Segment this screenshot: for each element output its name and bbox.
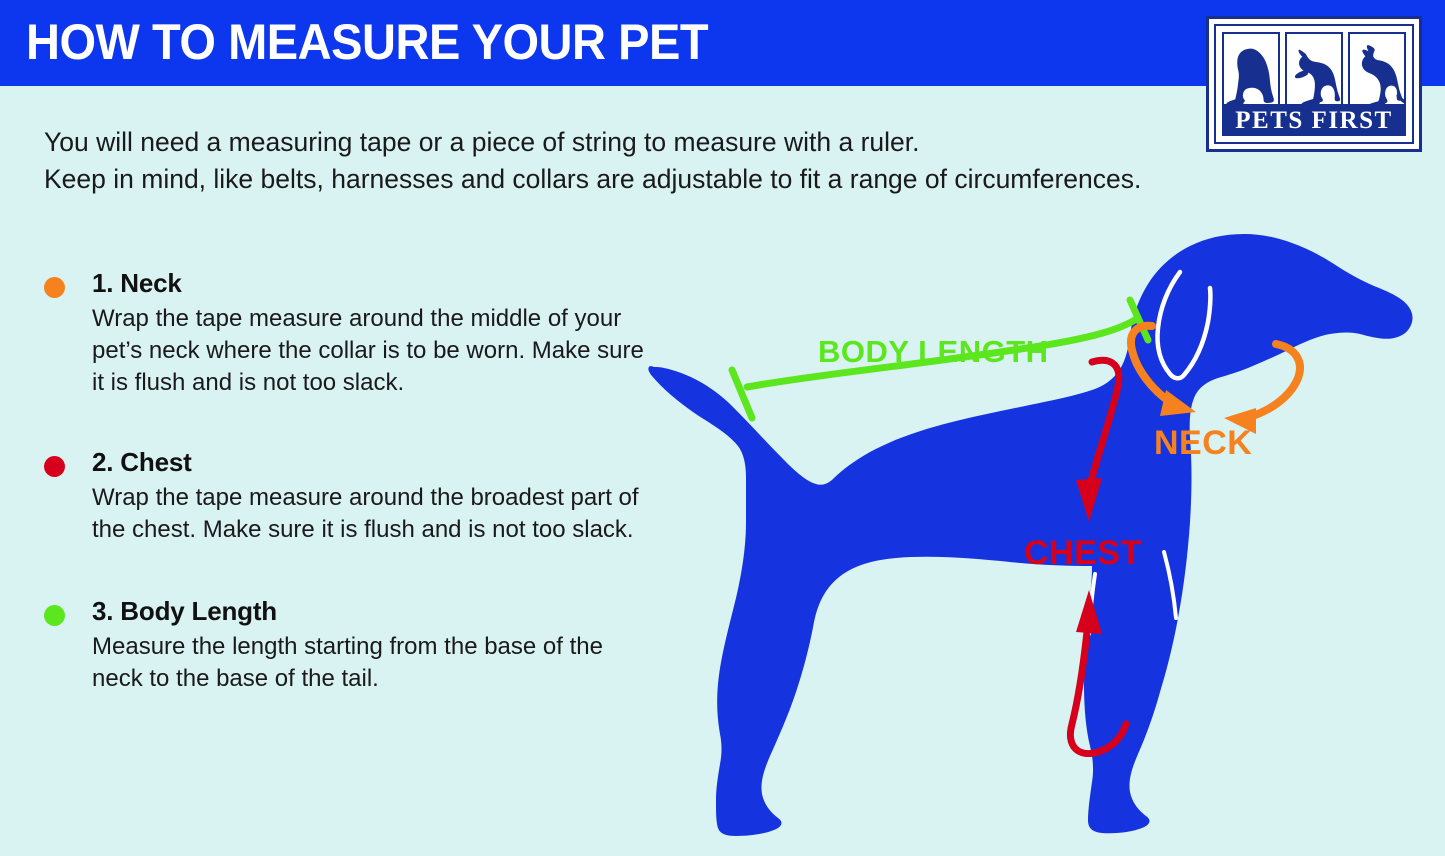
step-heading-neck: 1. Neck bbox=[92, 266, 654, 300]
neck-label: NECK bbox=[1154, 424, 1252, 462]
intro-line-1: You will need a measuring tape or a piec… bbox=[44, 124, 1284, 161]
step-body-length: 3. Body Length Measure the length starti… bbox=[44, 594, 654, 695]
logo-panel-2 bbox=[1285, 32, 1343, 110]
step-bullet-body-length bbox=[44, 605, 65, 626]
step-body-body-length: Measure the length starting from the bas… bbox=[92, 631, 654, 695]
step-neck: 1. Neck Wrap the tape measure around the… bbox=[44, 266, 654, 399]
how-to-measure-pet-infographic: HOW TO MEASURE YOUR PET bbox=[0, 0, 1445, 856]
step-heading-chest: 2. Chest bbox=[92, 445, 654, 479]
logo-panel-1 bbox=[1222, 32, 1280, 110]
intro-paragraph: You will need a measuring tape or a piec… bbox=[44, 124, 1284, 198]
intro-line-2: Keep in mind, like belts, harnesses and … bbox=[44, 161, 1284, 198]
step-heading-body-length: 3. Body Length bbox=[92, 594, 654, 628]
step-bullet-chest bbox=[44, 456, 65, 477]
body-length-label: BODY LENGTH bbox=[818, 334, 1049, 369]
step-body-neck: Wrap the tape measure around the middle … bbox=[92, 303, 654, 399]
logo-panel-3 bbox=[1348, 32, 1406, 110]
logo-dog-panels bbox=[1222, 32, 1406, 110]
page-title: HOW TO MEASURE YOUR PET bbox=[26, 14, 708, 70]
step-body-chest: Wrap the tape measure around the broades… bbox=[92, 482, 654, 546]
step-bullet-neck bbox=[44, 277, 65, 298]
dog-measurement-diagram: BODY LENGTH NECK CHEST bbox=[640, 222, 1440, 852]
chest-label: CHEST bbox=[1024, 534, 1142, 572]
step-chest: 2. Chest Wrap the tape measure around th… bbox=[44, 445, 654, 546]
measurement-steps-list: 1. Neck Wrap the tape measure around the… bbox=[44, 266, 654, 695]
